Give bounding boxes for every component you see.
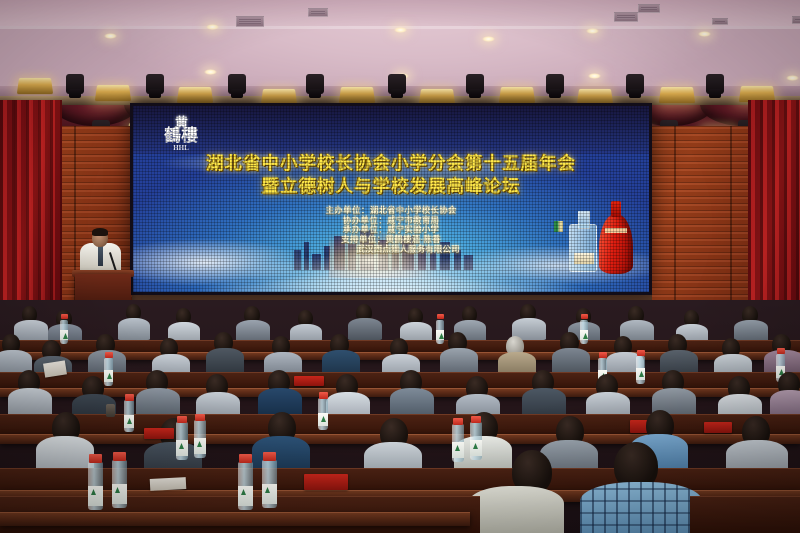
water-bottle: [88, 462, 103, 510]
bottle-cap: [125, 394, 134, 401]
organizer-label: 主办单位：: [325, 206, 369, 215]
bottle-label: [580, 330, 588, 340]
water-bottle: [176, 422, 188, 460]
water-bottle: [580, 320, 588, 344]
water-bottle: [436, 320, 444, 344]
logo-char-main: 鶴樓: [159, 127, 203, 144]
bottle-label: [112, 484, 127, 504]
bottle-label: [318, 413, 328, 426]
led-screen-frame: 黄 鶴樓 HHL 湖北省中小学校长协会小学分会第十五届年会 暨立德树人与学校发展…: [130, 103, 652, 295]
audience-torso: [734, 320, 768, 342]
organizer-label: 支持单位：: [341, 235, 385, 244]
audience-torso: [468, 486, 564, 533]
organizer-value: 咸宁实验小学: [387, 225, 439, 234]
table-name-card: [144, 428, 174, 439]
bottle-cap: [105, 352, 113, 358]
ceiling-downlight: [206, 24, 219, 30]
speaker-hair: [92, 228, 108, 236]
stage-par-light: [466, 74, 484, 94]
bottle-label: [470, 440, 482, 456]
audience-torso: [348, 318, 382, 340]
stage-flood-light: [17, 78, 53, 94]
stage-flood-light: [499, 87, 535, 103]
water-bottle: [60, 320, 68, 344]
ceiling-air-vent: [638, 4, 660, 13]
auditorium-photo: 黄 鶴樓 HHL 湖北省中小学校长协会小学分会第十五届年会 暨立德树人与学校发展…: [0, 0, 800, 533]
audience-torso: [580, 482, 702, 533]
product-bottle-clear: [569, 224, 597, 272]
water-bottle: [262, 460, 277, 508]
bottle-cap: [637, 350, 645, 356]
water-bottle: [452, 424, 464, 462]
ceiling-downlight: [482, 36, 495, 42]
screen-product-bottles: [551, 200, 637, 274]
audience-torso: [118, 318, 150, 340]
ceiling-air-vent: [792, 16, 800, 24]
bottle-label: [194, 438, 206, 454]
ceiling-downlight: [588, 73, 601, 79]
ceiling-downlight: [786, 75, 799, 81]
table-name-card: [704, 422, 732, 433]
stage-par-light: [66, 74, 84, 94]
bottle-cap: [319, 392, 328, 399]
stage-flood-light: [659, 87, 695, 103]
bottle-label: [436, 330, 444, 340]
ceiling-downlight: [698, 31, 711, 37]
bottle-cap: [239, 454, 252, 463]
bottle-label: [452, 442, 464, 458]
water-bottle: [124, 400, 134, 432]
audience-seat-back: [690, 496, 800, 533]
bottle-cap: [581, 314, 588, 319]
organizer-value: 咸宁市教育局: [387, 216, 439, 225]
ceiling-rear-panel: [0, 0, 800, 26]
bottle-cap: [61, 314, 68, 319]
organizer-label: 承办单位：: [343, 225, 387, 234]
ceiling-air-vent: [712, 18, 728, 25]
screen-title-block: 湖北省中小学校长协会小学分会第十五届年会 暨立德树人与学校发展高峰论坛: [133, 152, 649, 198]
ceiling-downlight: [586, 28, 599, 34]
water-bottle: [104, 358, 113, 386]
stage-par-light: [706, 74, 724, 94]
bottle-cap: [471, 416, 481, 423]
audience-torso: [440, 348, 478, 374]
ceiling-downlight: [104, 33, 117, 39]
bottle-label: [88, 486, 103, 506]
bottle-cap: [195, 414, 205, 421]
stage-flood-light: [339, 87, 375, 103]
bottle-label: [104, 370, 113, 382]
ceiling-air-vent: [308, 8, 328, 17]
bottle-label: [636, 368, 645, 380]
handout-paper: [150, 477, 187, 491]
audience-area: [0, 300, 800, 533]
bottle-cap: [777, 348, 785, 354]
ceiling-downlight: [394, 27, 407, 33]
audience-desk: [0, 512, 470, 526]
stage-par-light: [388, 74, 406, 94]
water-bottle: [470, 422, 482, 460]
stage-par-light: [228, 74, 246, 94]
water-bottle: [194, 420, 206, 458]
organizer-value: 湖北省中小学校长协会: [370, 206, 457, 215]
product-bottle-red: [599, 214, 633, 274]
water-bottle: [238, 462, 253, 510]
stage-par-light: [146, 74, 164, 94]
organizer-value: 黄鹤楼酒·陈香: [386, 235, 441, 244]
tea-cup: [106, 404, 115, 417]
water-bottle: [318, 398, 328, 430]
logo-char-sub: HHL: [159, 145, 203, 152]
table-name-card: [294, 376, 324, 386]
bottle-label: [60, 330, 68, 340]
conference-title-line-1: 湖北省中小学校长协会小学分会第十五届年会: [133, 152, 649, 174]
bottle-label: [262, 484, 277, 504]
stage-flood-light: [95, 85, 131, 101]
bottle-label: [124, 415, 134, 428]
organizer-label: 协办单位：: [343, 216, 387, 225]
audience-torso: [236, 320, 270, 342]
conference-title-line-2: 暨立德树人与学校发展高峰论坛: [133, 174, 649, 198]
bottle-cap: [599, 352, 607, 358]
stage-par-light: [546, 74, 564, 94]
audience-torso: [552, 348, 590, 374]
bottle-cap: [263, 452, 276, 461]
led-screen: 黄 鶴樓 HHL 湖北省中小学校长协会小学分会第十五届年会 暨立德树人与学校发展…: [133, 106, 649, 292]
bottle-label: [238, 486, 253, 506]
audience-torso: [206, 348, 244, 374]
water-bottle: [112, 460, 127, 508]
ceiling-air-vent: [614, 12, 638, 22]
bottle-cap: [89, 454, 102, 463]
bottle-label: [176, 440, 188, 456]
ceiling-downlight: [204, 69, 217, 75]
water-bottle: [636, 356, 645, 384]
table-name-card: [304, 474, 348, 490]
product-bottle-label: [574, 253, 594, 264]
bottle-cap: [113, 452, 126, 461]
stage-par-light: [626, 74, 644, 94]
stage-flood-light: [177, 87, 213, 103]
screen-decoration-tag: [554, 221, 563, 232]
stage-par-light: [306, 74, 324, 94]
speaker-tie: [98, 246, 103, 266]
bottle-cap: [177, 416, 187, 423]
bottle-cap: [453, 418, 463, 425]
ceiling-air-vent: [236, 16, 264, 27]
bottle-cap: [437, 314, 444, 319]
